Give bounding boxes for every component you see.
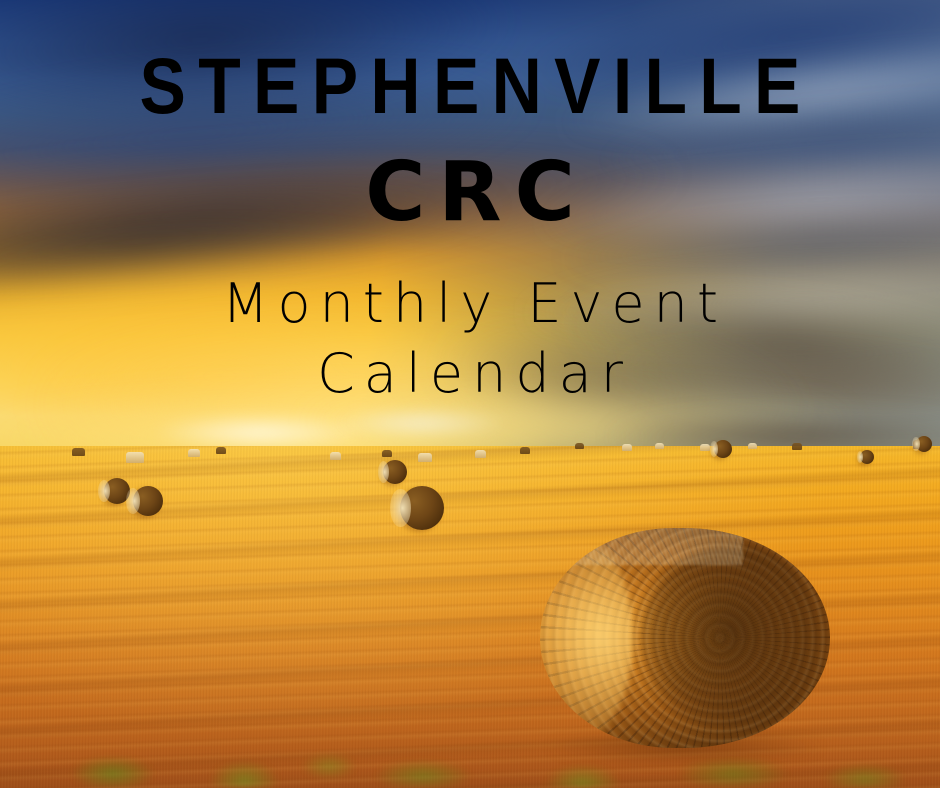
distant-hay-bale (330, 452, 341, 460)
organization-name-line1: STEPHENVILLE (56, 46, 883, 125)
midground-hay-bale (383, 460, 407, 484)
tagline-line2: Calendar (0, 347, 940, 401)
midground-hay-bale (860, 450, 874, 464)
distant-hay-bale (655, 443, 664, 449)
distant-hay-bale (418, 453, 432, 462)
midground-hay-bale (714, 440, 732, 458)
distant-hay-bale (72, 448, 85, 456)
tagline-line1: Monthly Event (0, 277, 940, 331)
distant-hay-bale (748, 443, 757, 449)
distant-hay-bale (126, 452, 144, 463)
midground-hay-bale (916, 436, 932, 452)
organization-name-line2: CRC (0, 152, 940, 234)
distant-hay-bale (382, 450, 392, 457)
bale-dark-core (639, 546, 825, 731)
bale-straw-wisps (563, 528, 743, 565)
distant-hay-bale (622, 444, 632, 451)
distant-hay-bale (700, 444, 710, 451)
distant-hay-bale (188, 449, 200, 457)
distant-hay-bale (792, 443, 802, 450)
midground-hay-bale (133, 486, 163, 516)
event-calendar-poster: STEPHENVILLE CRC Monthly Event Calendar (0, 0, 940, 788)
distant-hay-bale (216, 447, 226, 454)
distant-hay-bale (575, 443, 584, 449)
distant-hay-bale (520, 447, 530, 454)
distant-hay-bale (475, 450, 486, 458)
bale-cylinder (540, 528, 830, 748)
foreground-hay-bale (540, 528, 830, 758)
midground-hay-bale (400, 486, 444, 530)
